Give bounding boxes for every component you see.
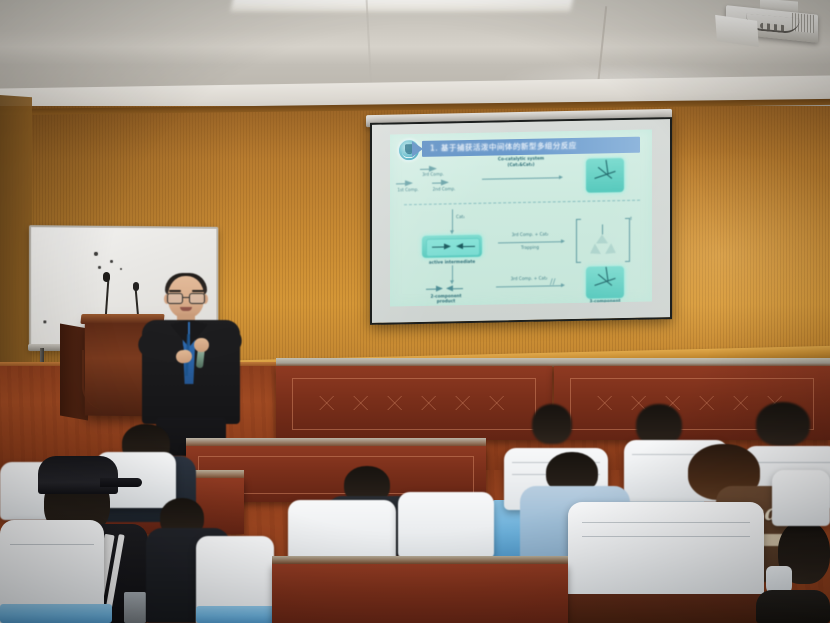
podium-microphone-icon	[103, 272, 110, 282]
bracket-charge-label: ‡	[630, 216, 632, 221]
projected-slide: 1. 基于捕获活泼中间体的新型多组分反应 3rd Comp. 1st Comp.	[390, 129, 652, 306]
whiteboard-mark	[120, 268, 122, 270]
baseball-cap	[38, 456, 118, 494]
active-intermediate-box	[422, 235, 482, 258]
lecture-hall-scene: 1. 基于捕获活泼中间体的新型多组分反应 3rd Comp. 1st Comp.	[0, 0, 830, 623]
main-reaction-arrow	[482, 177, 560, 179]
reagent-1st-label: 1st Comp.	[392, 187, 424, 193]
seat-frame	[560, 594, 772, 623]
trapping-arrow	[498, 241, 562, 243]
presenter-brow	[169, 290, 181, 292]
audience-torso	[756, 590, 830, 623]
glasses-icon	[167, 293, 205, 302]
three-component-product-box	[586, 266, 624, 299]
catalyst-branch-arrow	[452, 209, 453, 231]
cap-brim	[100, 478, 142, 487]
bench-chevron-ornament	[310, 396, 516, 410]
projection-screen: 1. 基于捕获活泼中间体的新型多组分反应 3rd Comp. 1st Comp.	[370, 117, 672, 325]
podium-microphone-icon	[133, 282, 139, 291]
desk-front	[272, 564, 568, 623]
reagent-3rd-label: 3rd Comp.	[416, 171, 450, 177]
catalyst-system-line2: (Cat₁&Cat₂)	[486, 161, 556, 167]
ceiling-seam	[366, 0, 373, 92]
two-component-label-2: product	[418, 298, 474, 304]
product-top-box	[586, 158, 624, 193]
scheme-divider	[404, 200, 640, 206]
whiteboard-mark	[94, 252, 98, 256]
reaction-scheme: 3rd Comp. 1st Comp. 2nd Comp. Co-catalyt…	[390, 155, 652, 306]
trapping-reagent-label: 3rd Comp. + Cat₂	[500, 231, 560, 237]
audience-head	[532, 404, 572, 444]
ceiling-light-panel	[230, 0, 573, 12]
seat-cover	[772, 470, 830, 526]
two-component-arrow	[452, 265, 453, 281]
presenter-hand	[194, 338, 209, 352]
branch-catalyst-label: Cat₁	[456, 214, 472, 219]
active-intermediate-label: active intermediate	[422, 259, 482, 265]
projector-mount-plate	[715, 15, 759, 47]
whiteboard-mark	[110, 260, 113, 263]
seat-cover-foreground	[568, 502, 764, 598]
ceiling-projector	[716, 2, 822, 46]
whiteboard-mark	[98, 266, 101, 269]
audience-head	[756, 402, 810, 446]
smartphone	[124, 592, 146, 623]
trapping-label: Trapping	[500, 244, 560, 250]
seat-base	[0, 604, 112, 623]
whiteboard-mark	[43, 320, 46, 323]
blocked-symbol: //	[550, 277, 555, 286]
seat-cover	[398, 492, 494, 558]
seat-base	[196, 606, 280, 623]
reagent-2nd-label: 2nd Comp.	[428, 186, 460, 192]
presenter-brow	[192, 290, 204, 292]
